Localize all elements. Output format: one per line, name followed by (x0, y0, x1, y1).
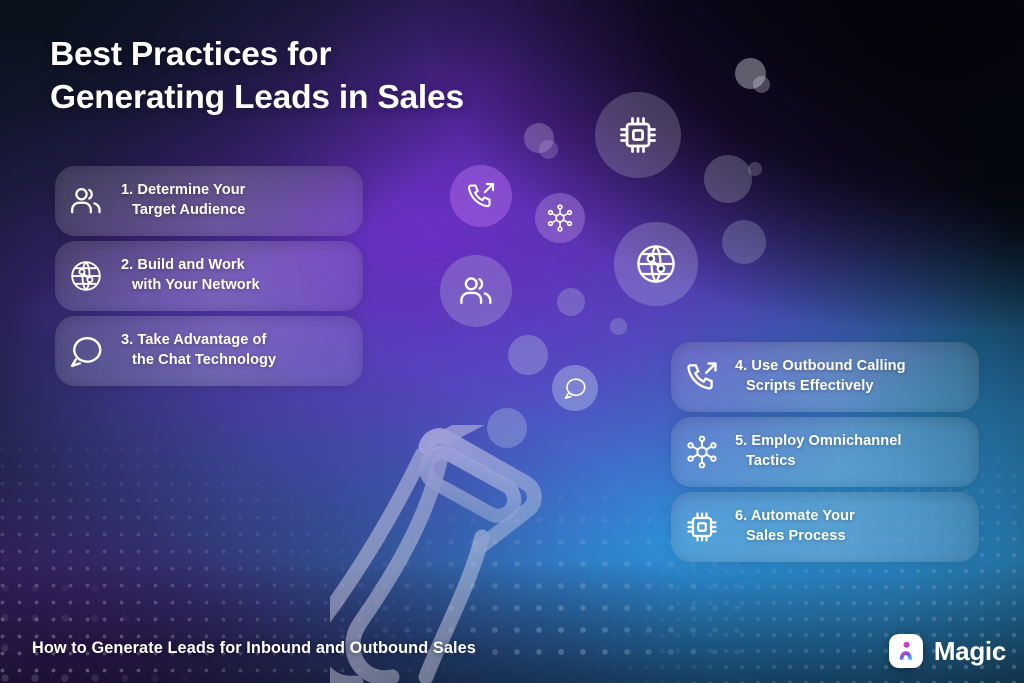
users-icon (68, 183, 104, 219)
card-3-icon-wrap (55, 332, 117, 370)
magic-logo-icon (895, 640, 917, 662)
card-1-line-2: Target Audience (121, 201, 245, 221)
card-1-icon-wrap (55, 183, 117, 219)
brand-mark (889, 634, 923, 668)
decor-bubble (704, 155, 752, 203)
globe-network-icon (633, 241, 679, 287)
users-icon (457, 272, 495, 310)
card-3-line-2: the Chat Technology (121, 351, 276, 371)
decor-bubble (748, 162, 762, 176)
chat-bubble-icon (562, 375, 588, 401)
card-1-text: 1. Determine Your Target Audience (117, 181, 245, 221)
omnichannel-icon (684, 434, 720, 470)
globe-network-icon (68, 258, 104, 294)
brand-lockup[interactable]: Magic (889, 634, 1006, 668)
chat-bubble-icon (67, 332, 105, 370)
card-3-text: 3. Take Advantage of the Chat Technology (117, 331, 276, 371)
title-line-1: Best Practices for (50, 34, 610, 77)
card-4-text: 4. Use Outbound Calling Scripts Effectiv… (733, 357, 906, 397)
card-5-text: 5. Employ Omnichannel Tactics (733, 432, 901, 472)
card-4-line-2: Scripts Effectively (735, 377, 906, 397)
card-6-text: 6. Automate Your Sales Process (733, 507, 855, 547)
card-2-line-2: with Your Network (121, 276, 260, 296)
decor-bubble (487, 408, 527, 448)
cpu-chip-icon (616, 113, 660, 157)
card-6-line-2: Sales Process (735, 527, 855, 547)
card-6-line-1: 6. Automate Your (735, 508, 855, 524)
decor-bubble (557, 288, 585, 316)
decor-icon-bubble-users (440, 255, 512, 327)
card-2-text: 2. Build and Work with Your Network (117, 256, 260, 296)
decor-bubble (508, 335, 548, 375)
title-line-2: Generating Leads in Sales (50, 77, 610, 120)
list-item-card-3[interactable]: 3. Take Advantage of the Chat Technology (55, 316, 363, 386)
decor-icon-bubble-chat (552, 365, 598, 411)
page-title: Best Practices for Generating Leads in S… (50, 34, 610, 120)
decor-icon-bubble-omnichannel (535, 193, 585, 243)
card-1-line-1: 1. Determine Your (121, 182, 245, 198)
card-4-icon-wrap (671, 359, 733, 395)
omnichannel-icon (545, 203, 575, 233)
card-6-icon-wrap (671, 509, 733, 545)
outbound-call-icon (465, 180, 497, 212)
decor-bubble (610, 318, 627, 335)
decor-bubble (539, 140, 558, 159)
outbound-call-icon (684, 359, 720, 395)
decor-icon-bubble-globe (614, 222, 698, 306)
card-3-line-1: 3. Take Advantage of (121, 332, 266, 348)
decor-bubble (722, 220, 766, 264)
list-item-card-2[interactable]: 2. Build and Work with Your Network (55, 241, 363, 311)
card-4-line-1: 4. Use Outbound Calling (735, 358, 906, 374)
list-item-card-6[interactable]: 6. Automate Your Sales Process (671, 492, 979, 562)
list-item-card-1[interactable]: 1. Determine Your Target Audience (55, 166, 363, 236)
decor-icon-bubble-call (450, 165, 512, 227)
footer-caption: How to Generate Leads for Inbound and Ou… (32, 639, 476, 658)
decor-bubble (753, 76, 770, 93)
card-5-icon-wrap (671, 434, 733, 470)
infographic-poster: Best Practices for Generating Leads in S… (0, 0, 1024, 683)
card-5-line-2: Tactics (735, 452, 901, 472)
card-2-icon-wrap (55, 258, 117, 294)
list-item-card-4[interactable]: 4. Use Outbound Calling Scripts Effectiv… (671, 342, 979, 412)
card-2-line-1: 2. Build and Work (121, 257, 245, 273)
list-item-card-5[interactable]: 5. Employ Omnichannel Tactics (671, 417, 979, 487)
cpu-chip-icon (684, 509, 720, 545)
card-5-line-1: 5. Employ Omnichannel (735, 433, 901, 449)
brand-name: Magic (934, 636, 1006, 667)
